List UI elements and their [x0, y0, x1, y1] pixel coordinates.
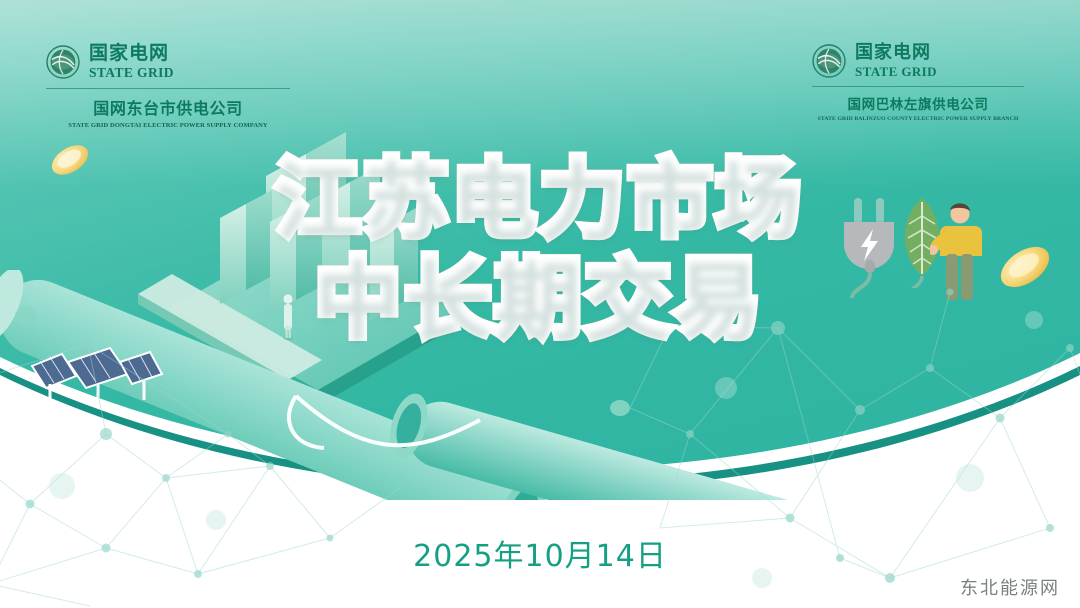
logo-divider-left: [46, 88, 290, 89]
logo-divider-right: [812, 86, 1024, 87]
company-name-cn-right: 国网巴林左旗供电公司: [812, 93, 1024, 113]
logo-block-left: 国家电网 STATE GRID 国网东台市供电公司 STATE GRID DON…: [46, 44, 290, 129]
state-grid-emblem-icon: [46, 45, 80, 79]
poster-canvas: 国家电网 STATE GRID 国网东台市供电公司 STATE GRID DON…: [0, 0, 1080, 608]
company-name-en-left: STATE GRID DONGTAI ELECTRIC POWER SUPPLY…: [44, 122, 293, 129]
company-name-cn-left: 国网东台市供电公司: [46, 95, 290, 119]
brand-name-cn-left: 国家电网: [89, 44, 174, 63]
event-date: 2025年10月14日: [0, 531, 1080, 575]
state-grid-brand-right: 国家电网 STATE GRID: [812, 44, 1024, 78]
brand-name-en-left: STATE GRID: [89, 66, 174, 80]
logo-block-right: 国家电网 STATE GRID 国网巴林左旗供电公司 STATE GRID BA…: [812, 44, 1024, 122]
brand-name-cn-right: 国家电网: [855, 44, 937, 62]
state-grid-emblem-icon: [812, 44, 846, 78]
company-name-en-right: STATE GRID BALINZUO COUNTY ELECTRIC POWE…: [810, 116, 1026, 122]
state-grid-brand-left: 国家电网 STATE GRID: [46, 44, 290, 80]
site-watermark: 东北能源网: [960, 574, 1060, 600]
brand-name-en-right: STATE GRID: [855, 65, 937, 78]
